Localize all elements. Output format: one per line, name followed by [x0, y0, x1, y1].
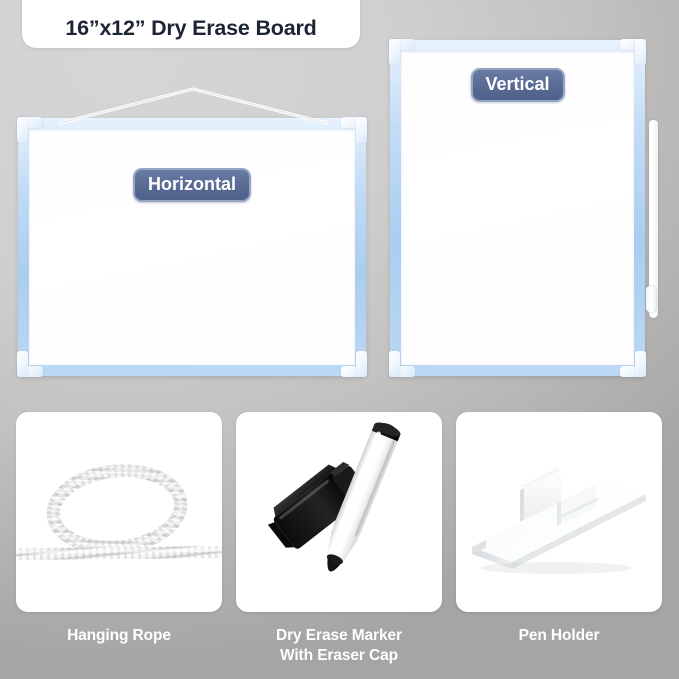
corner-bracket-top-right: [341, 117, 367, 143]
hanging-rope-image: [16, 412, 222, 612]
accessory-card-dry-erase-marker[interactable]: Dry Erase Marker With Eraser Cap: [236, 412, 442, 666]
accessory-card-pen-holder[interactable]: Pen Holder: [456, 412, 662, 646]
corner-bracket-bottom-right: [341, 351, 367, 377]
corner-bracket-bottom-left: [17, 351, 43, 377]
vertical-board-label: Vertical: [470, 68, 564, 102]
accessory-card-label-line: Dry Erase Marker: [236, 626, 442, 646]
corner-bracket-top-left: [389, 39, 415, 65]
accessory-card-label-line: Pen Holder: [456, 626, 662, 646]
accessory-card-hanging-rope[interactable]: Hanging Rope: [16, 412, 222, 646]
page-title: 16”x12” Dry Erase Board: [22, 16, 360, 41]
title-banner: 16”x12” Dry Erase Board: [22, 0, 360, 48]
pen-holder-icon: [646, 120, 662, 318]
corner-bracket-bottom-right: [620, 351, 646, 377]
corner-bracket-top-right: [620, 39, 646, 65]
vertical-board: Vertical: [390, 40, 645, 376]
pen-holder-lip: [646, 286, 656, 312]
dry-erase-marker-image: [236, 412, 442, 612]
accessory-card-label: Pen Holder: [456, 626, 662, 646]
accessory-card-label: Hanging Rope: [16, 626, 222, 646]
corner-bracket-top-left: [17, 117, 43, 143]
accessory-card-label-line: With Eraser Cap: [236, 646, 442, 666]
product-infographic: 16”x12” Dry Erase Board Horizontal Verti…: [0, 0, 679, 679]
pen-holder-image: [456, 412, 662, 612]
accessory-card-label: Dry Erase Marker With Eraser Cap: [236, 626, 442, 666]
board-writing-surface: [29, 129, 355, 365]
horizontal-board-label: Horizontal: [133, 168, 251, 202]
accessory-card-list: Hanging Rope: [0, 412, 679, 679]
accessory-card-label-line: Hanging Rope: [16, 626, 222, 646]
horizontal-board: Horizontal: [18, 118, 366, 376]
corner-bracket-bottom-left: [389, 351, 415, 377]
